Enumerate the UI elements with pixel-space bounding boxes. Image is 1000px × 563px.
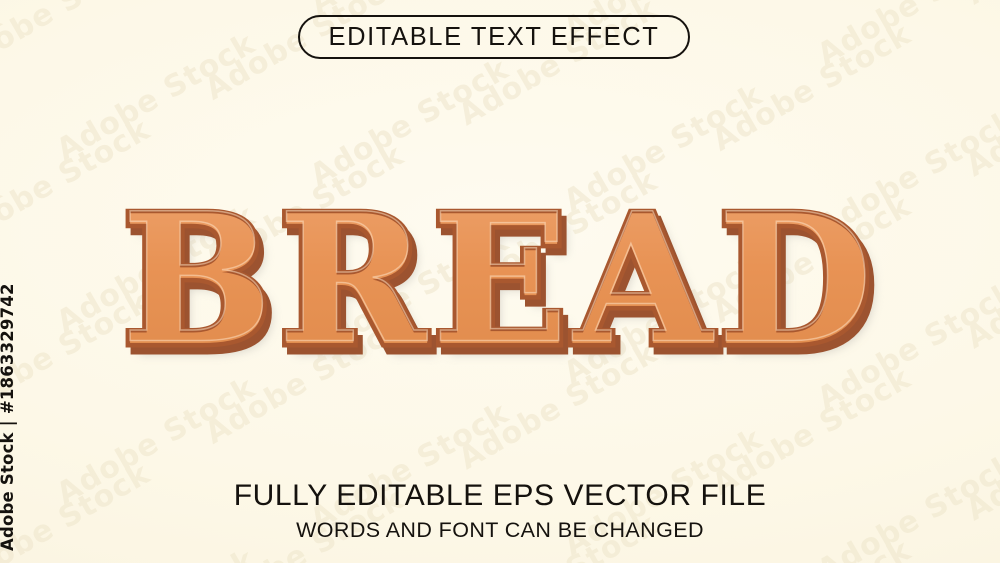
- adobe-stock-credit: Adobe Stock | #1863329742: [0, 283, 17, 551]
- artwork-canvas: Adobe StockAdobe StockAdobe StockAdobe S…: [0, 0, 1000, 563]
- hero-highlight-layer: BREAD: [0, 184, 1000, 374]
- caption-primary: FULLY EDITABLE EPS VECTOR FILE: [0, 479, 1000, 513]
- hero-wordart-bread: BREAD BREAD BREAD BREAD BREAD: [0, 186, 1000, 376]
- caption-secondary: WORDS AND FONT CAN BE CHANGED: [0, 518, 1000, 543]
- editable-text-effect-badge: EDITABLE TEXT EFFECT: [298, 15, 690, 59]
- badge-label: EDITABLE TEXT EFFECT: [329, 23, 660, 52]
